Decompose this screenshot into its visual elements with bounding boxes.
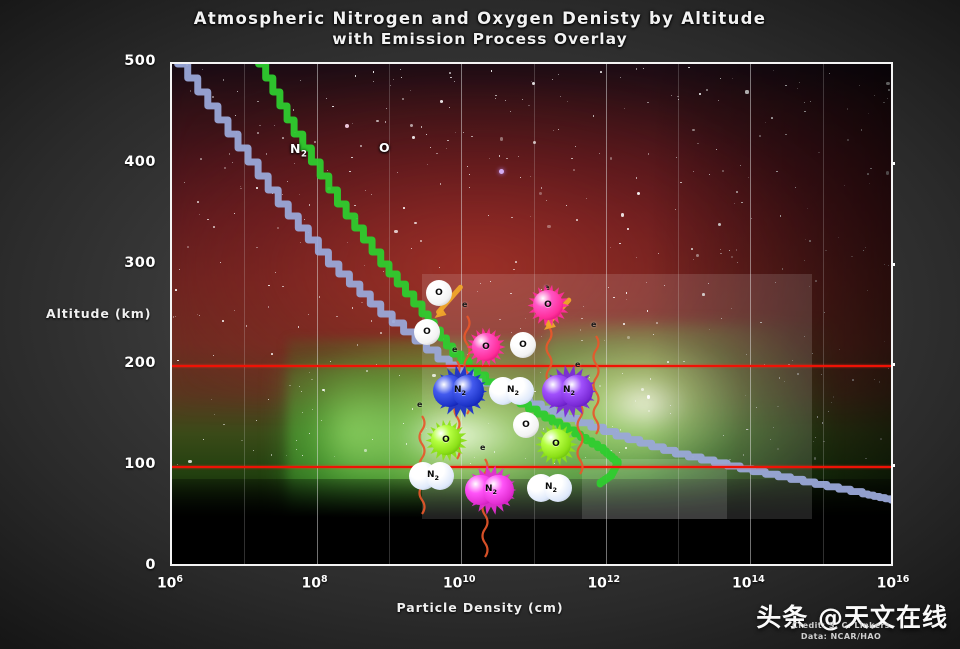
- y-tick-label: 200: [112, 355, 156, 371]
- molecule-o-white-2: O: [414, 319, 440, 345]
- x-tick-label: 1012: [587, 574, 620, 592]
- molecule-o-white-1: O: [426, 280, 452, 306]
- y-tick-label: 100: [112, 456, 156, 472]
- molecule-label: O: [442, 435, 450, 445]
- molecule-n2-white-1: N2: [496, 374, 530, 408]
- molecule-n2-white-3: N2: [534, 471, 568, 505]
- molecule-label: N2: [454, 385, 466, 397]
- y-tick-label: 400: [112, 154, 156, 170]
- y-tick-label: 0: [112, 557, 156, 573]
- credits-line2: Data: NCAR/HAO: [736, 631, 946, 642]
- molecule-o-pink-2: O: [533, 290, 563, 320]
- molecule-o-green-2: O: [541, 429, 571, 459]
- chart-page: Atmospheric Nitrogen and Oxygen Denisty …: [0, 0, 960, 649]
- y-tick-label: 300: [112, 255, 156, 271]
- molecule-label: O: [519, 340, 527, 350]
- molecule-label: O: [423, 327, 431, 337]
- chart-title: Atmospheric Nitrogen and Oxygen Denisty …: [0, 8, 960, 50]
- molecule-label: O: [482, 342, 490, 352]
- x-tick-label: 106: [157, 574, 183, 592]
- molecule-label: O: [544, 300, 552, 310]
- x-tick-label: 108: [302, 574, 328, 592]
- chart-title-line2: with Emission Process Overlay: [0, 29, 960, 50]
- credits-line1: Credit: S. C. Linkers: [736, 620, 946, 631]
- plot-area: eeeeeee OOOOON2N2N2OOON2N2N2 N2 O: [170, 62, 893, 566]
- x-tick-label: 1014: [732, 574, 765, 592]
- x-tick-label: 1016: [877, 574, 910, 592]
- molecule-n2-white-2: N2: [416, 459, 450, 493]
- molecule-label: O: [522, 420, 530, 430]
- molecule-label: N2: [507, 385, 519, 397]
- molecule-label: N2: [427, 470, 439, 482]
- molecule-o-green-1: O: [431, 425, 461, 455]
- molecule-label: O: [552, 439, 560, 449]
- x-tick-label: 1010: [443, 574, 476, 592]
- credits: Credit: S. C. Linkers Data: NCAR/HAO: [736, 620, 946, 642]
- molecule-n2-magenta: N2: [473, 472, 509, 508]
- y-axis-title: Altitude (km): [46, 306, 151, 321]
- molecule-label: N2: [563, 385, 575, 397]
- y-tick-label: 500: [112, 53, 156, 69]
- molecule-n2-purple: N2: [550, 372, 588, 410]
- molecule-n2-blue: N2: [441, 372, 479, 410]
- chart-title-line1: Atmospheric Nitrogen and Oxygen Denisty …: [0, 8, 960, 29]
- molecule-label: N2: [485, 484, 497, 496]
- molecule-o-pink-1: O: [472, 333, 500, 361]
- molecule-label: N2: [545, 482, 557, 494]
- molecule-label: O: [435, 288, 443, 298]
- molecule-o-white-3: O: [510, 332, 536, 358]
